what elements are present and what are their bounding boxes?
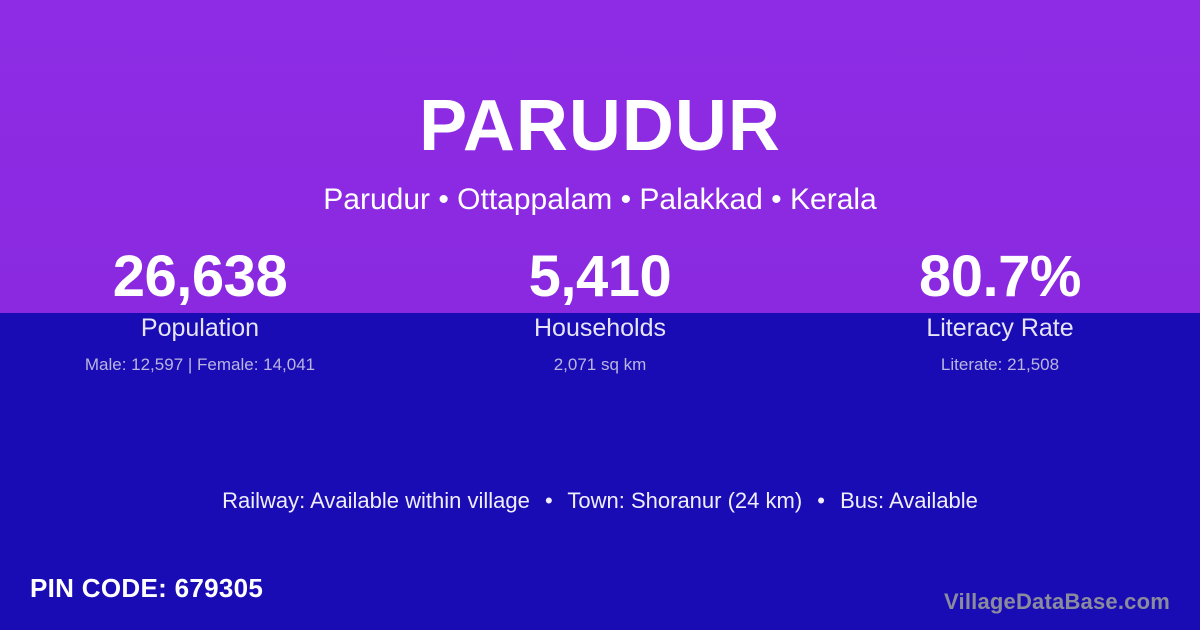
stat-label: Households xyxy=(400,312,800,344)
stat-literacy-rate: 80.7% Literacy Rate Literate: 21,508 xyxy=(800,244,1200,376)
amenities-row: Railway: Available within village • Town… xyxy=(0,486,1200,516)
railway-info: Railway: Available within village xyxy=(222,488,530,513)
bullet-separator-icon: • xyxy=(808,486,834,516)
nearest-town-info: Town: Shoranur (24 km) xyxy=(567,488,802,513)
bullet-separator-icon: • xyxy=(536,486,562,516)
stat-value: 80.7% xyxy=(800,244,1200,310)
stat-value: 5,410 xyxy=(400,244,800,310)
stat-households: 5,410 Households 2,071 sq km xyxy=(400,244,800,376)
page-title: PARUDUR xyxy=(0,86,1200,166)
site-brand: VillageDataBase.com xyxy=(944,588,1170,616)
stat-sublabel: Literate: 21,508 xyxy=(800,354,1200,376)
stat-label: Population xyxy=(0,312,400,344)
stat-sublabel: Male: 12,597 | Female: 14,041 xyxy=(0,354,400,376)
stat-label: Literacy Rate xyxy=(800,312,1200,344)
stat-value: 26,638 xyxy=(0,244,400,310)
village-info-card: PARUDUR Parudur • Ottappalam • Palakkad … xyxy=(0,0,1200,630)
stats-row: 26,638 Population Male: 12,597 | Female:… xyxy=(0,244,1200,376)
stat-population: 26,638 Population Male: 12,597 | Female:… xyxy=(0,244,400,376)
breadcrumb: Parudur • Ottappalam • Palakkad • Kerala xyxy=(0,182,1200,218)
bus-info: Bus: Available xyxy=(840,488,978,513)
stat-sublabel: 2,071 sq km xyxy=(400,354,800,376)
pin-code: PIN CODE: 679305 xyxy=(30,571,263,605)
